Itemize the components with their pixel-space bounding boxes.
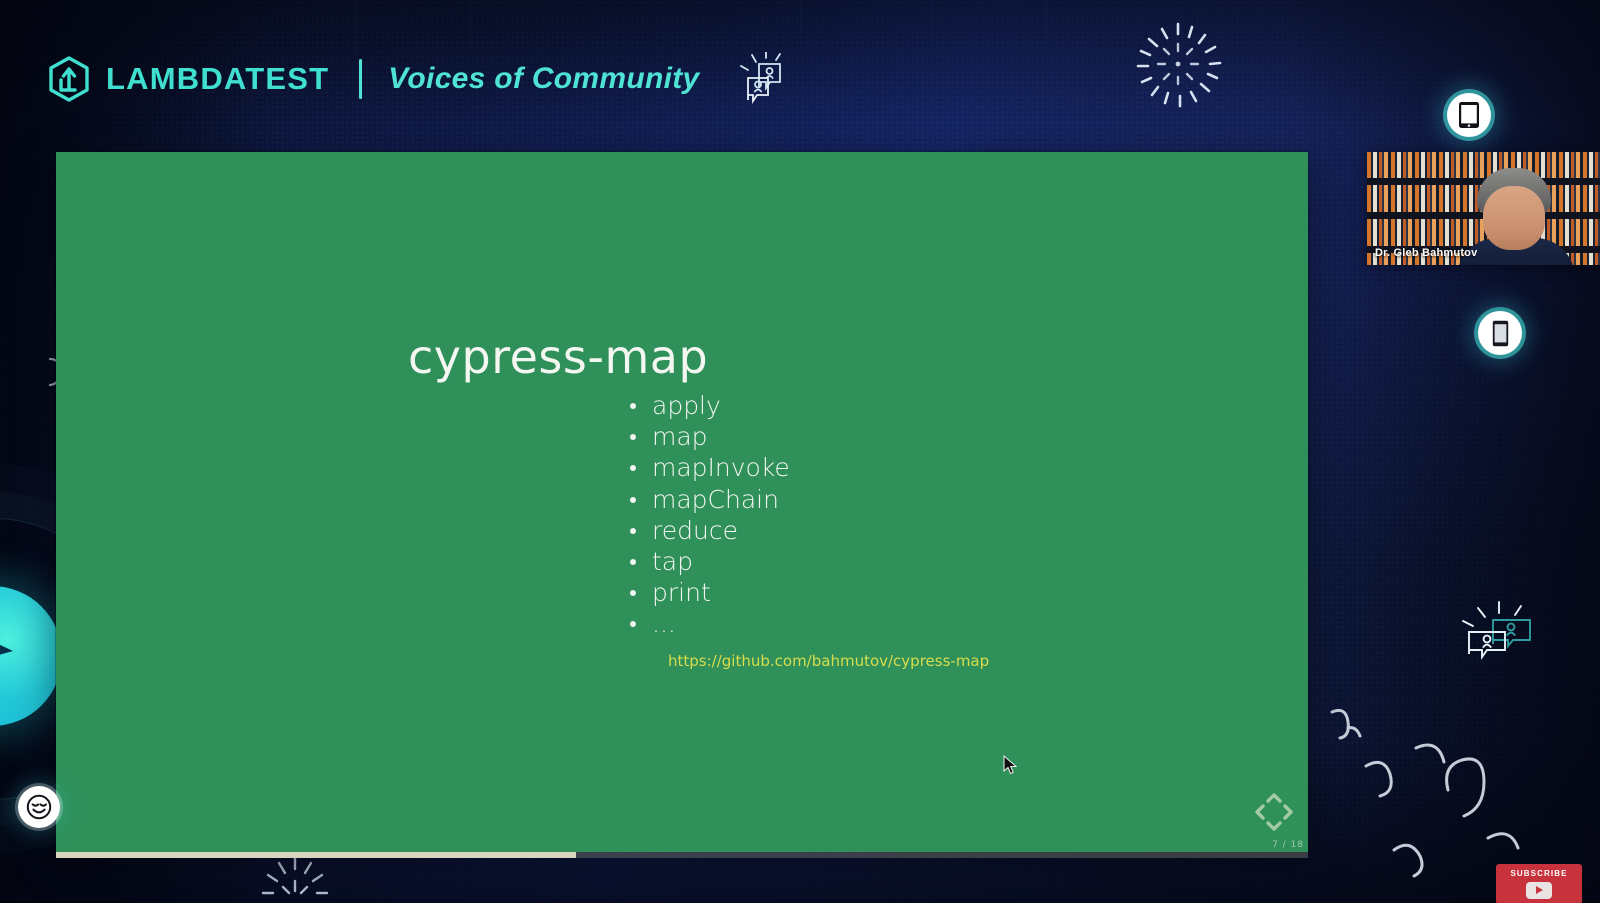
slide-title: cypress-map xyxy=(408,330,708,384)
list-item: mapChain xyxy=(624,484,790,515)
slide-repository-link[interactable]: https://github.com/bahmutov/cypress-map xyxy=(668,652,989,670)
speaker-webcam-tile[interactable]: Dr. Gleb Bahmutov xyxy=(1367,152,1600,265)
list-item: map xyxy=(624,421,790,452)
broadcast-header: LAMBDATEST Voices of Community xyxy=(48,48,782,110)
subscribe-button[interactable]: SUBSCRIBE xyxy=(1496,864,1582,903)
youtube-play-icon xyxy=(1526,882,1552,899)
presentation-slide[interactable]: cypress-map apply map mapInvoke mapChain… xyxy=(56,152,1308,852)
smiley-face-icon xyxy=(26,794,52,820)
radial-burst-icon xyxy=(255,855,335,903)
expand-arrows-icon[interactable] xyxy=(1248,786,1300,838)
list-item: ... xyxy=(624,608,790,639)
list-item: reduce xyxy=(624,515,790,546)
squiggle-doodle-icon xyxy=(1320,640,1570,890)
brand-name: LAMBDATEST xyxy=(106,61,329,97)
mobile-view-button[interactable] xyxy=(1478,311,1522,355)
slide-progress-scrollbar[interactable] xyxy=(56,852,1308,858)
speaker-name-label: Dr. Gleb Bahmutov xyxy=(1375,247,1477,259)
list-item: tap xyxy=(624,546,790,577)
slide-bullet-list: apply map mapInvoke mapChain reduce tap … xyxy=(624,390,790,640)
tablet-view-button[interactable] xyxy=(1447,93,1491,137)
list-item: mapInvoke xyxy=(624,452,790,483)
lambdatest-hexagon-logo xyxy=(48,56,90,102)
subscribe-label: SUBSCRIBE xyxy=(1510,869,1567,878)
slide-page-indicator: 7 / 18 xyxy=(1272,840,1304,850)
speech-bubbles-icon xyxy=(726,52,782,106)
radial-burst-icon xyxy=(1130,18,1226,114)
emoji-reaction-button[interactable] xyxy=(18,786,60,828)
tablet-icon xyxy=(1458,101,1480,129)
mobile-phone-icon xyxy=(1492,320,1509,347)
list-item: print xyxy=(624,577,790,608)
program-title: Voices of Community xyxy=(388,62,699,96)
mouse-pointer-icon xyxy=(1003,755,1019,775)
broadcast-screen: LAMBDATEST Voices of Community xyxy=(0,0,1600,903)
list-item: apply xyxy=(624,390,790,421)
header-divider xyxy=(359,59,362,99)
mouse-pointer-icon xyxy=(0,625,23,687)
speaker-video-figure xyxy=(1463,168,1567,265)
